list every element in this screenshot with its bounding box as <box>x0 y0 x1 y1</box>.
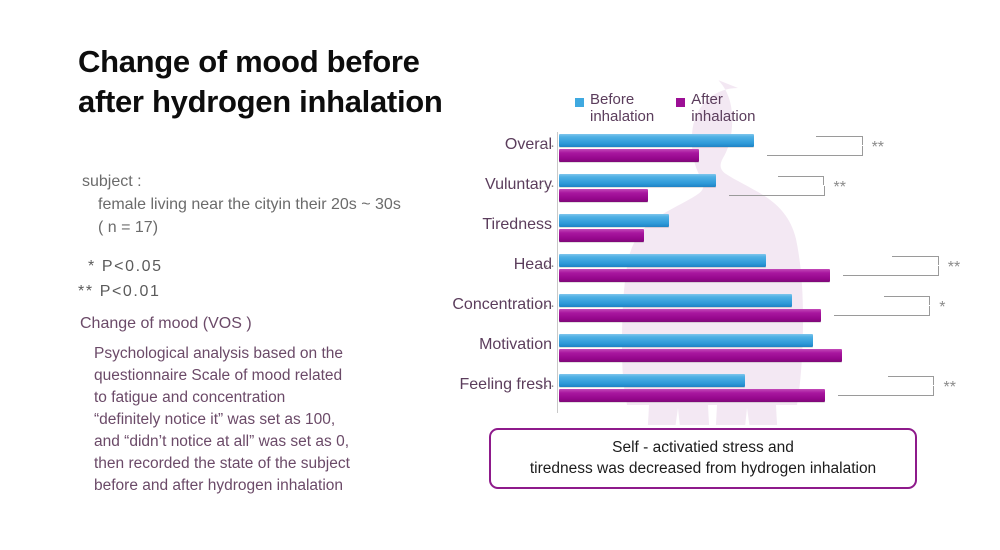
bar-chart: Before inhalation After inhalation Overa… <box>420 80 980 425</box>
category-leader-dots: ··· <box>538 137 556 154</box>
vos-line: then recorded the state of the subject <box>94 453 434 475</box>
slide-canvas: Change of mood before after hydrogen inh… <box>0 0 1000 550</box>
category-leader-dots: ··· <box>538 377 556 394</box>
chart-category-row: Overal···** <box>558 134 981 174</box>
legend-item-after: After inhalation <box>676 92 755 126</box>
legend-label-before: Before inhalation <box>590 92 654 126</box>
chart-category-row: Tiredness <box>558 214 981 254</box>
chart-category-row: Motivation <box>558 334 981 374</box>
bracket-lower-arm <box>767 146 863 156</box>
vos-line: questionnaire Scale of mood related <box>94 365 434 387</box>
legend-after-word1: After <box>691 92 755 109</box>
bar-after-inhalation <box>559 229 644 242</box>
legend-swatch-before-icon <box>575 98 584 107</box>
legend-before-word1: Before <box>590 92 654 109</box>
category-label: Motivation <box>479 336 552 354</box>
bracket-upper-arm <box>892 256 939 265</box>
vos-line: and “didn’t notice at all” was set as 0, <box>94 431 434 453</box>
significance-marker: ** <box>943 380 955 396</box>
bracket-upper-arm <box>816 136 863 145</box>
legend-swatch-after-icon <box>676 98 685 107</box>
legend-item-before: Before inhalation <box>575 92 654 126</box>
vos-line: Psychological analysis based on the <box>94 343 434 365</box>
conclusion-line-2: tiredness was decreased from hydrogen in… <box>530 459 876 480</box>
conclusion-callout: Self - activatied stress and tiredness w… <box>489 428 917 489</box>
significance-marker: ** <box>834 180 846 196</box>
legend-before-word2: inhalation <box>590 109 654 126</box>
vos-line: to fatigue and concentration <box>94 387 434 409</box>
p-value-001: ** P<0.01 <box>78 280 163 305</box>
chart-category-row: Vuluntary···** <box>558 174 981 214</box>
bar-after-inhalation <box>559 269 830 282</box>
conclusion-line-1: Self - activatied stress and <box>530 438 876 459</box>
bar-before-inhalation <box>559 294 792 307</box>
significance-marker: * <box>939 300 945 316</box>
bar-after-inhalation <box>559 389 825 402</box>
bracket-lower-arm <box>834 306 930 316</box>
chart-category-row: Concentration···* <box>558 294 981 334</box>
p-value-005: * P<0.05 <box>78 255 163 280</box>
category-label: Tiredness <box>482 216 552 234</box>
chart-category-row: Feeling fresh···** <box>558 374 981 414</box>
chart-category-row: Head···** <box>558 254 981 294</box>
bar-before-inhalation <box>559 334 813 347</box>
bar-before-inhalation <box>559 134 754 147</box>
bracket-upper-arm <box>888 376 935 385</box>
vos-line: before and after hydrogen inhalation <box>94 475 434 497</box>
category-leader-dots: ··· <box>538 297 556 314</box>
conclusion-text: Self - activatied stress and tiredness w… <box>530 438 876 480</box>
bracket-lower-arm <box>838 386 934 396</box>
bar-before-inhalation <box>559 174 716 187</box>
bracket-lower-arm <box>843 266 939 276</box>
legend-after-word2: inhalation <box>691 109 755 126</box>
bracket-upper-arm <box>884 296 931 305</box>
significance-legend: * P<0.05 ** P<0.01 <box>78 255 163 305</box>
vos-line: “definitely notice it” was set as 100, <box>94 409 434 431</box>
vos-description: Psychological analysis based on the ques… <box>94 343 434 497</box>
bracket-lower-arm <box>729 186 825 196</box>
bar-before-inhalation <box>559 214 669 227</box>
significance-marker: ** <box>872 140 884 156</box>
bar-before-inhalation <box>559 374 745 387</box>
chart-legend: Before inhalation After inhalation <box>575 92 755 126</box>
bar-before-inhalation <box>559 254 766 267</box>
bracket-upper-arm <box>778 176 825 185</box>
significance-marker: ** <box>948 260 960 276</box>
bar-after-inhalation <box>559 189 648 202</box>
vos-heading: Change of mood (VOS ) <box>80 315 252 333</box>
title-line-1: Change of mood before <box>78 44 420 79</box>
category-leader-dots: ··· <box>538 257 556 274</box>
bar-after-inhalation <box>559 349 842 362</box>
bar-after-inhalation <box>559 309 821 322</box>
category-leader-dots: ··· <box>538 177 556 194</box>
chart-plot-area: Overal···**Vuluntary···**TirednessHead··… <box>557 132 981 413</box>
bar-after-inhalation <box>559 149 699 162</box>
legend-label-after: After inhalation <box>691 92 755 126</box>
